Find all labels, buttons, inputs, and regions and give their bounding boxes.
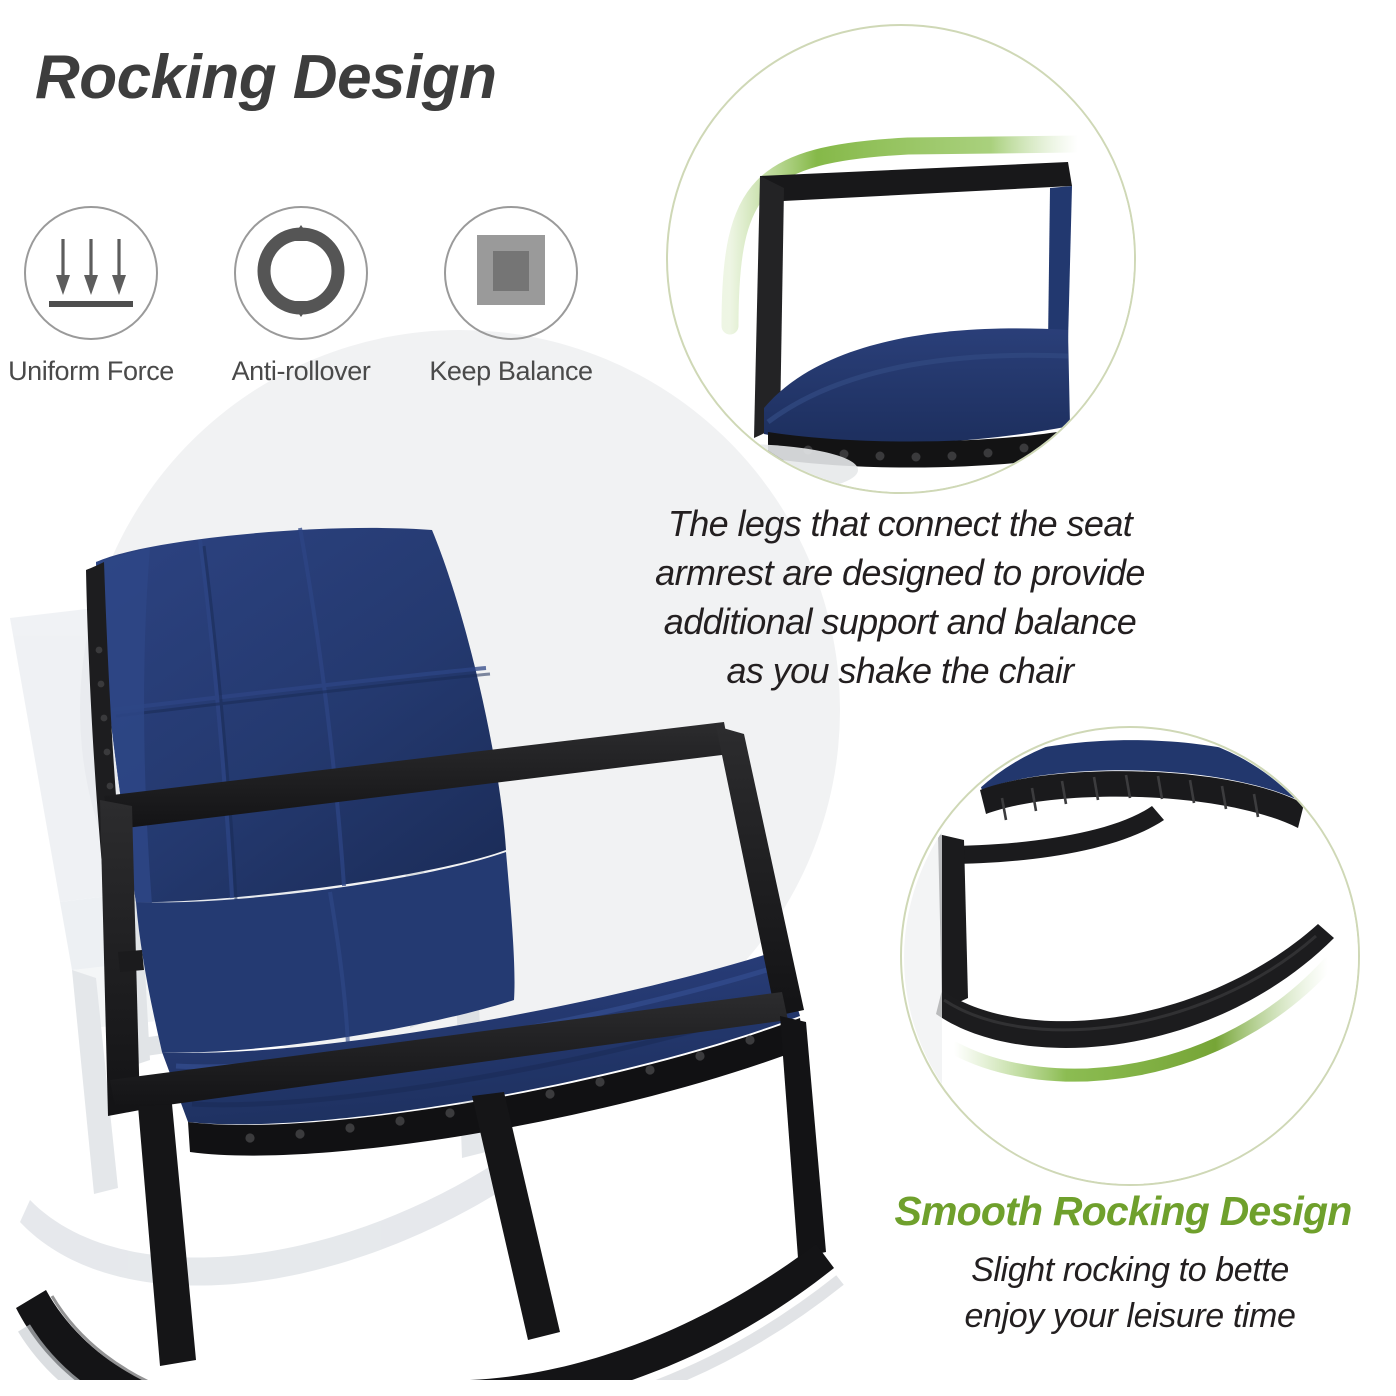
feature-uniform-force: Uniform Force bbox=[16, 206, 166, 387]
smooth-line-2: enjoy your leisure time bbox=[880, 1294, 1380, 1340]
feature-anti-rollover: Anti-rollover bbox=[226, 206, 376, 387]
solid-chair bbox=[16, 528, 840, 1380]
feature-label: Anti-rollover bbox=[232, 356, 371, 387]
rocking-chair-illustration bbox=[0, 500, 880, 1380]
feature-label: Uniform Force bbox=[8, 356, 174, 387]
inset-rocker-closeup bbox=[900, 726, 1360, 1186]
nested-squares-icon bbox=[459, 219, 563, 328]
feature-row: Uniform Force Anti-rollover bbox=[16, 206, 636, 387]
feature-circle bbox=[24, 206, 158, 340]
armrest-frame-illustration bbox=[668, 26, 1136, 494]
feature-circle bbox=[234, 206, 368, 340]
downward-arrows-on-bar-icon bbox=[39, 219, 143, 328]
main-chair-image bbox=[0, 500, 880, 1380]
inset-armrest-closeup bbox=[666, 24, 1136, 494]
smooth-line-1: Slight rocking to bette bbox=[880, 1248, 1380, 1294]
infographic-root: Rocking Design bbox=[0, 0, 1396, 1396]
smooth-rocking-heading: Smooth Rocking Design bbox=[850, 1188, 1396, 1235]
smooth-rocking-subtext: Slight rocking to bette enjoy your leisu… bbox=[880, 1248, 1380, 1340]
page-title: Rocking Design bbox=[35, 42, 497, 113]
feature-label: Keep Balance bbox=[429, 356, 592, 387]
feature-circle bbox=[444, 206, 578, 340]
rocker-base-illustration bbox=[902, 728, 1360, 1186]
feature-keep-balance: Keep Balance bbox=[436, 206, 586, 387]
circular-rotation-arrows-icon bbox=[249, 219, 353, 328]
